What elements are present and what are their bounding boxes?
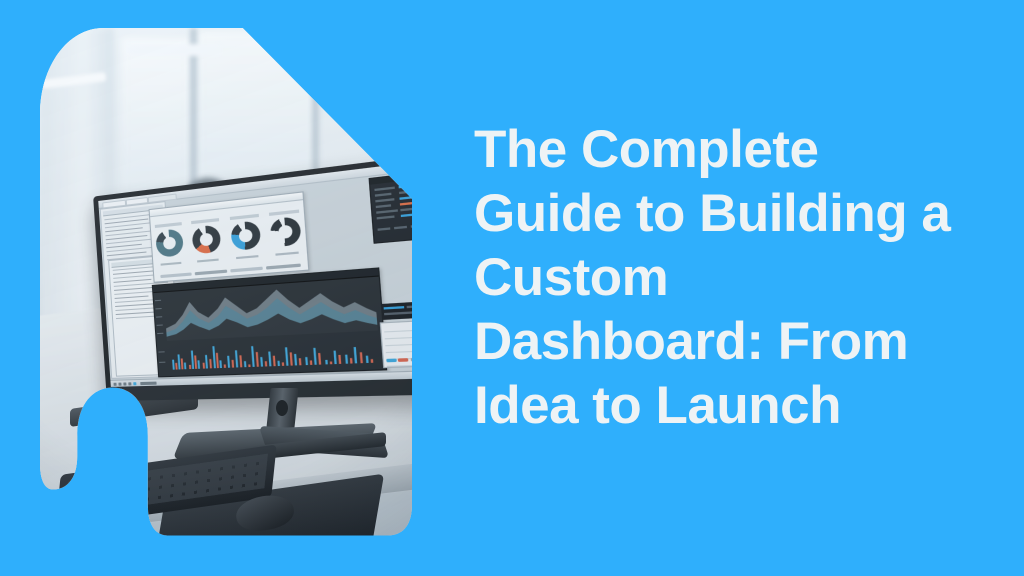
donut-gauge-4[interactable] [269, 216, 301, 247]
legend-entry [194, 270, 226, 276]
table-row[interactable] [115, 296, 149, 299]
title-line-4: Dashboard: From [474, 310, 974, 374]
dashboard-ui [98, 161, 412, 387]
taskbar-icon[interactable] [123, 382, 126, 385]
computer-monitor [93, 154, 412, 401]
config-row[interactable] [376, 209, 398, 213]
table-row[interactable] [115, 303, 155, 307]
gauge-caption [275, 252, 298, 256]
gauge-label [155, 222, 182, 228]
config-row[interactable] [394, 226, 407, 230]
gauge-row [155, 208, 302, 265]
axis-tick [157, 333, 163, 334]
legend-entry [160, 272, 191, 278]
taskbar-icon[interactable] [128, 382, 131, 385]
dark-log-panel[interactable] [381, 301, 412, 320]
axis-tick [155, 300, 161, 301]
config-row[interactable] [377, 227, 390, 230]
list-item[interactable] [386, 347, 412, 353]
taskbar-icon[interactable] [133, 382, 136, 385]
taskbar-icon[interactable] [118, 382, 121, 385]
axis-tick [156, 316, 162, 317]
legend-entry [266, 264, 301, 270]
config-row[interactable] [377, 215, 395, 219]
taskbar-icon[interactable] [113, 382, 116, 385]
axis-tick [158, 351, 164, 352]
title-line-1: The Complete [474, 118, 974, 182]
ceiling-light-icon [126, 44, 222, 56]
config-row[interactable] [375, 198, 394, 202]
gauge-label [229, 214, 258, 220]
config-row[interactable] [374, 187, 394, 192]
config-value[interactable] [400, 208, 412, 212]
config-value[interactable] [400, 201, 412, 205]
axis-tick [155, 308, 161, 309]
config-value[interactable] [399, 196, 412, 200]
title-line-5: Idea to Launch [474, 374, 974, 438]
table-row[interactable] [114, 279, 152, 283]
config-row[interactable] [376, 204, 391, 208]
action-button-row [386, 357, 412, 362]
legend-entry [230, 267, 263, 273]
gauge-label [269, 209, 299, 215]
axis-tick [157, 324, 163, 325]
gauge-caption [236, 255, 258, 259]
gauge-caption [161, 262, 182, 266]
danger-button[interactable] [398, 358, 408, 362]
primary-button[interactable] [386, 359, 396, 363]
table-row[interactable] [116, 312, 154, 315]
title-line-2: Guide to Building a [474, 182, 974, 246]
log-row [407, 305, 412, 309]
gauge-label [191, 218, 219, 224]
hero-photo [40, 28, 412, 538]
poster-canvas: The Complete Guide to Building a Custom … [0, 0, 1024, 576]
config-value[interactable] [399, 190, 412, 194]
title-line-3: Custom [474, 246, 974, 310]
donut-gauge-3[interactable] [230, 220, 261, 251]
donut-gauge-2[interactable] [192, 224, 222, 254]
page-title: The Complete Guide to Building a Custom … [474, 118, 974, 438]
donut-gauge-1[interactable] [155, 228, 184, 257]
kpi-gauge-window[interactable] [149, 191, 310, 282]
taskbar-item[interactable] [140, 381, 156, 385]
stand-cable-hole [276, 400, 288, 416]
task-list-panel[interactable] [380, 320, 412, 369]
list-item[interactable] [385, 340, 412, 347]
config-row[interactable] [411, 224, 412, 227]
list-item[interactable] [384, 333, 412, 340]
secondary-button[interactable] [410, 358, 412, 362]
monitor-screen [98, 161, 412, 387]
log-row [384, 306, 405, 309]
config-row[interactable] [375, 193, 392, 197]
list-item[interactable] [384, 326, 412, 333]
dark-config-panel[interactable] [369, 172, 412, 244]
axis-tick [159, 362, 165, 363]
config-value[interactable] [399, 184, 412, 188]
time-series-window[interactable] [152, 267, 387, 377]
log-row [384, 311, 412, 316]
config-value[interactable] [401, 213, 412, 217]
bar-chart [167, 335, 380, 370]
photo-inner [40, 28, 412, 538]
gauge-caption [197, 259, 219, 263]
